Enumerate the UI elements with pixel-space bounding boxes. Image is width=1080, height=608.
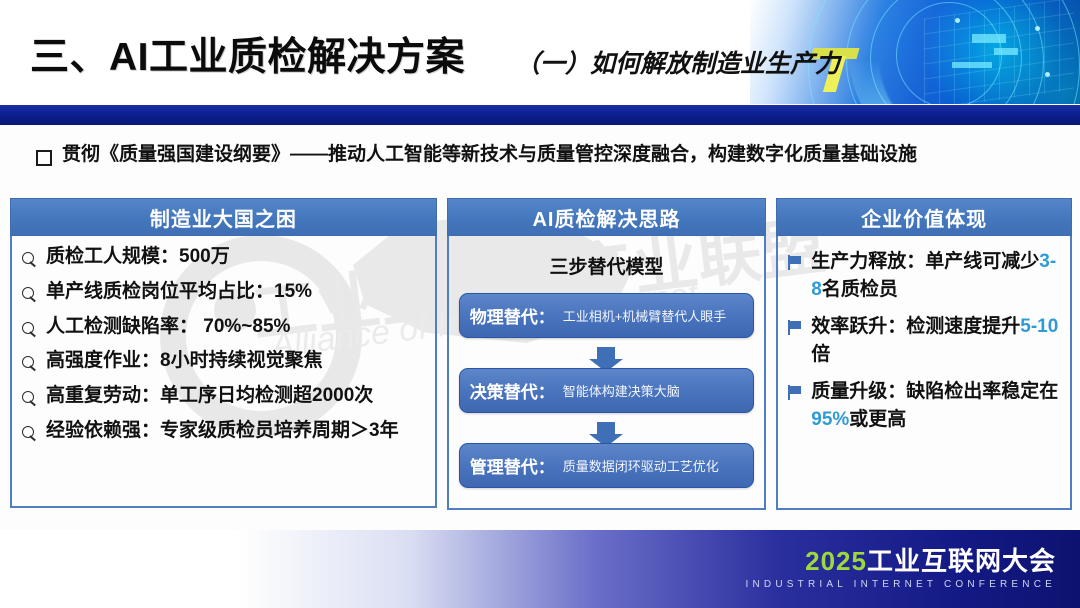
list-item-label: 高重复劳动：单工序日均检测超2000次: [46, 385, 373, 408]
logo-year: 2025: [805, 546, 867, 576]
step-box-physical: 物理替代： 工业相机+机械臂替代人眼手: [459, 293, 755, 338]
list-item: 效率跃升：检测速度提升5-10倍: [788, 313, 1062, 368]
step-value: 工业相机+机械臂替代人眼手: [563, 306, 727, 325]
flag-icon: [788, 385, 802, 401]
list-item-label: 单产线质检岗位平均占比：15%: [46, 281, 312, 304]
page-title: 三、AI工业质检解决方案: [30, 26, 465, 82]
slide-footer: 2025工业互联网大会 INDUSTRIAL INTERNET CONFEREN…: [0, 530, 1080, 608]
step-box-management: 管理替代： 质量数据闭环驱动工艺优化: [459, 443, 755, 488]
step-key: 决策替代：: [470, 378, 555, 403]
list-item-label: 质量升级：缺陷检出率稳定在95%或更高: [811, 378, 1062, 433]
column-body-left: 质检工人规模：500万 单产线质检岗位平均占比：15% 人工检测缺陷率： 70%…: [10, 236, 437, 508]
list-item: 人工检测缺陷率： 70%~85%: [22, 316, 427, 339]
column-solution: AI质检解决思路 三步替代模型 物理替代： 工业相机+机械臂替代人眼手 决策替代…: [447, 198, 767, 510]
square-bullet-icon: [36, 150, 52, 166]
list-item-label: 生产力释放：单产线可减少3-8名质检员: [811, 248, 1062, 303]
page-subtitle: （一）如何解放制造业生产力: [515, 44, 840, 80]
step-value: 质量数据闭环驱动工艺优化: [563, 456, 719, 475]
list-item: 单产线质检岗位平均占比：15%: [22, 281, 427, 304]
magnifier-icon: [22, 391, 37, 406]
flag-icon: [788, 320, 802, 336]
column-value: 企业价值体现 生产力释放：单产线可减少3-8名质检员 效率跃升：检测速度提升5-…: [776, 198, 1072, 510]
step-box-decision: 决策替代： 智能体构建决策大脑: [459, 368, 755, 413]
logo-name-cn: 工业互联网大会: [867, 546, 1056, 576]
list-item: 高强度作业：8小时持续视觉聚焦: [22, 350, 427, 373]
magnifier-icon: [22, 356, 37, 371]
column-header-middle: AI质检解决思路: [447, 198, 767, 236]
list-item-label: 效率跃升：检测速度提升5-10倍: [811, 313, 1062, 368]
step-key: 物理替代：: [470, 303, 555, 328]
column-pain-points: 制造业大国之困 质检工人规模：500万 单产线质检岗位平均占比：15% 人工检测…: [10, 198, 437, 508]
list-item-label: 经验依赖强：专家级质检员培养周期＞3年: [46, 420, 399, 443]
list-item-label: 质检工人规模：500万: [46, 246, 230, 269]
logo-name-en: INDUSTRIAL INTERNET CONFERENCE: [746, 579, 1056, 590]
column-body-middle: 三步替代模型 物理替代： 工业相机+机械臂替代人眼手 决策替代： 智能体构建决策…: [447, 236, 767, 510]
list-item: 经验依赖强：专家级质检员培养周期＞3年: [22, 420, 427, 443]
list-item: 质检工人规模：500万: [22, 246, 427, 269]
slide-header: 三、AI工业质检解决方案 （一）如何解放制造业生产力: [0, 0, 1080, 104]
arrow-down-icon: [459, 413, 755, 443]
magnifier-icon: [22, 252, 37, 267]
list-item-label: 人工检测缺陷率： 70%~85%: [46, 316, 290, 339]
list-item: 质量升级：缺陷检出率稳定在95%或更高: [788, 378, 1062, 433]
step-value: 智能体构建决策大脑: [563, 381, 680, 400]
header-divider-bar: [0, 105, 1080, 125]
model-title: 三步替代模型: [459, 252, 755, 279]
list-item-label: 高强度作业：8小时持续视觉聚焦: [46, 350, 323, 373]
magnifier-icon: [22, 426, 37, 441]
column-header-left: 制造业大国之困: [10, 198, 437, 236]
conference-logo: 2025工业互联网大会 INDUSTRIAL INTERNET CONFEREN…: [746, 548, 1056, 590]
magnifier-icon: [22, 287, 37, 302]
list-item: 生产力释放：单产线可减少3-8名质检员: [788, 248, 1062, 303]
column-body-right: 生产力释放：单产线可减少3-8名质检员 效率跃升：检测速度提升5-10倍 质量升…: [776, 236, 1072, 510]
step-key: 管理替代：: [470, 453, 555, 478]
arrow-down-icon: [459, 338, 755, 368]
column-header-right: 企业价值体现: [776, 198, 1072, 236]
slide-canvas: 三、AI工业质检解决方案 （一）如何解放制造业生产力 贯彻《质量强国建设纲要》—…: [0, 0, 1080, 608]
lead-statement: 贯彻《质量强国建设纲要》——推动人工智能等新技术与质量管控深度融合，构建数字化质…: [36, 143, 1060, 168]
list-item: 高重复劳动：单工序日均检测超2000次: [22, 385, 427, 408]
lead-statement-text: 贯彻《质量强国建设纲要》——推动人工智能等新技术与质量管控深度融合，构建数字化质…: [62, 143, 917, 168]
content-columns: 制造业大国之困 质检工人规模：500万 单产线质检岗位平均占比：15% 人工检测…: [10, 198, 1072, 510]
flag-icon: [788, 255, 802, 271]
magnifier-icon: [22, 322, 37, 337]
